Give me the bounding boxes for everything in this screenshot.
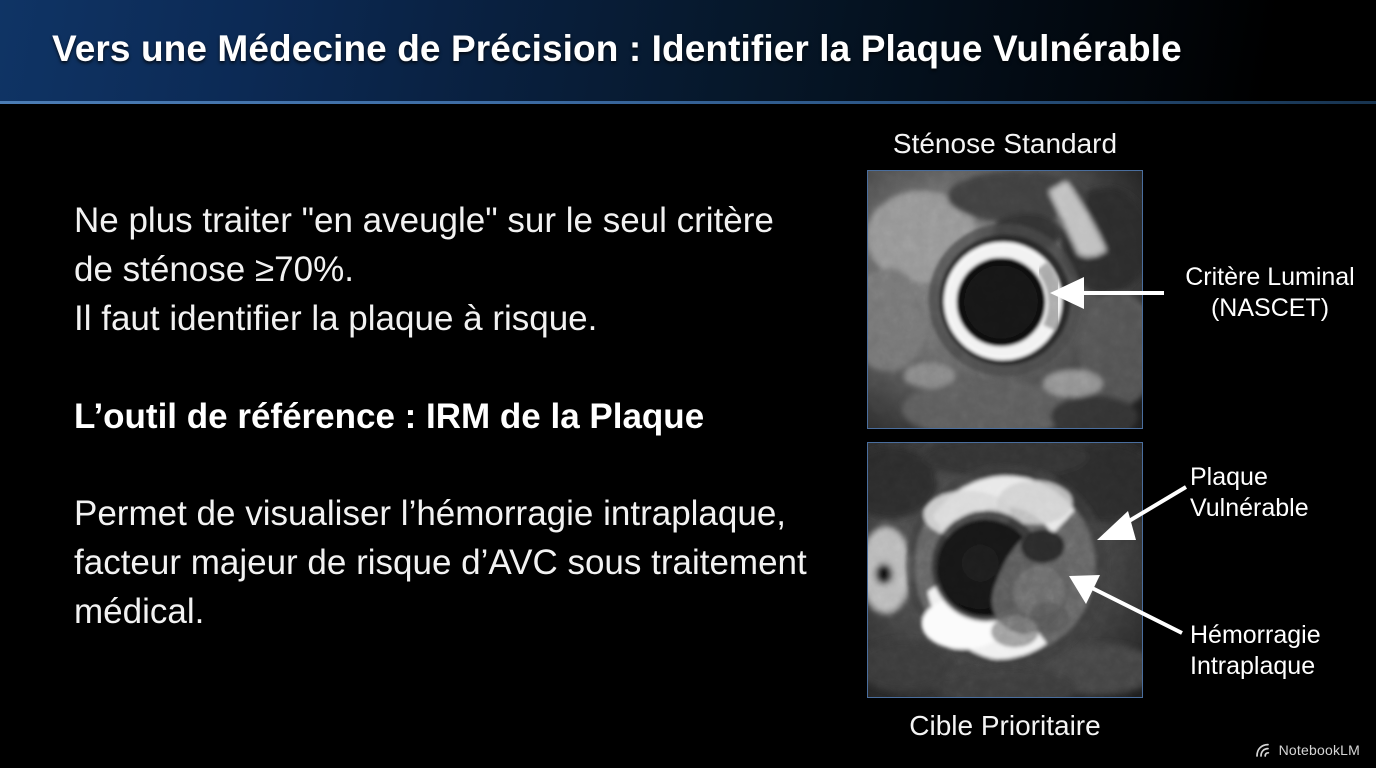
content-text-column: Ne plus traiter "en aveugle" sur le seul… — [74, 196, 814, 636]
figure-caption-top: Sténose Standard — [867, 128, 1143, 160]
carotid-mri-axial-vulnerable-plaque — [868, 443, 1142, 697]
annotation-label-hemorragie-intraplaque: Hémorragie Intraplaque — [1190, 620, 1321, 682]
annotation-label-nascet: Critère Luminal (NASCET) — [1168, 262, 1372, 324]
watermark-label: NotebookLM — [1279, 742, 1360, 758]
annotation-label-plaque-vulnerable: Plaque Vulnérable — [1190, 462, 1309, 524]
mri-image-standard-stenosis — [867, 170, 1143, 429]
notebooklm-spark-icon — [1256, 743, 1273, 758]
paragraph-detail: Permet de visualiser l’hémorragie intrap… — [74, 489, 814, 636]
page-title: Vers une Médecine de Précision : Identif… — [52, 28, 1182, 70]
paragraph-tool-heading: L’outil de référence : IRM de la Plaque — [74, 392, 814, 441]
figure-caption-bottom: Cible Prioritaire — [867, 710, 1143, 742]
paragraph-intro: Ne plus traiter "en aveugle" sur le seul… — [74, 196, 814, 343]
mri-image-vulnerable-plaque — [867, 442, 1143, 698]
title-bar: Vers une Médecine de Précision : Identif… — [0, 0, 1376, 101]
title-divider — [0, 101, 1376, 104]
carotid-mri-axial-standard-stenosis — [868, 171, 1142, 428]
notebooklm-watermark: NotebookLM — [1256, 742, 1360, 758]
